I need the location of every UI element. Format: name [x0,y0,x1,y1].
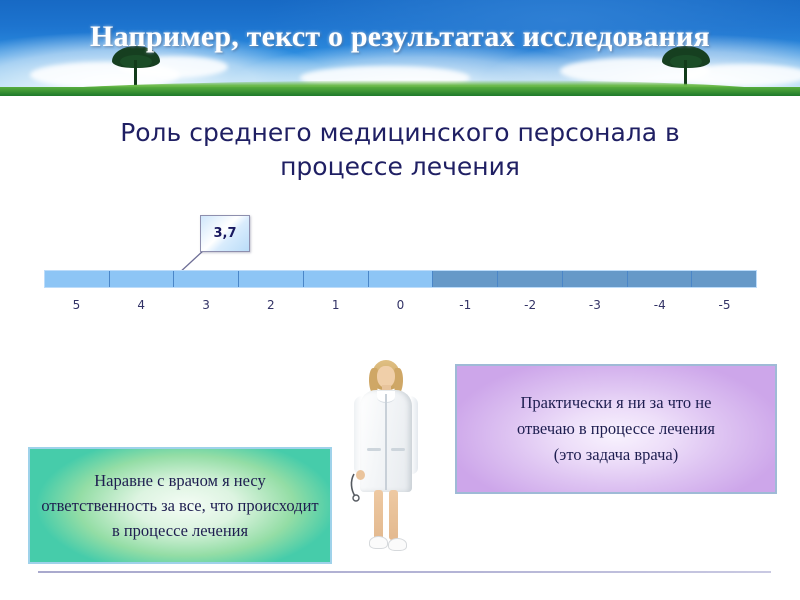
scale-segment--4 [628,271,693,287]
grass-strip-dark [0,87,800,96]
scale-tick-5: 5 [44,298,109,312]
statement-box-agree-text: Наравне с врачом я несу ответственность … [36,468,324,543]
scale-segment-1 [304,271,369,287]
scale-segment-5 [45,271,110,287]
callout-value: 3,7 [213,226,236,241]
scale-tick-4: 4 [109,298,174,312]
statement-box-disagree: Практически я ни за что не отвечаю в про… [455,364,777,494]
scale-segment--1 [433,271,498,287]
scale-tick-0: 0 [368,298,433,312]
scale-tick--5: -5 [692,298,757,312]
scale-segment--5 [692,271,756,287]
scale-segment-4 [110,271,175,287]
scale-tick-1: 1 [303,298,368,312]
scale-segment-2 [239,271,304,287]
banner-title: Например, текст о результатах исследован… [0,20,800,54]
scale-tick--3: -3 [563,298,628,312]
scale-segment--3 [563,271,628,287]
page-title: Роль среднего медицинского персонала в п… [60,116,740,184]
scale-segment--2 [498,271,563,287]
footer-divider [38,571,771,573]
scale-tick-3: 3 [174,298,239,312]
statement-box-agree: Наравне с врачом я несу ответственность … [28,447,332,564]
statement-box-disagree-line3: (это задача врача) [517,442,715,468]
header-banner: Например, текст о результатах исследован… [0,0,800,96]
stethoscope-icon [349,472,365,502]
scale-chart: 543210-1-2-3-4-5 [44,270,757,312]
scale-segment-3 [174,271,239,287]
scale-bar [44,270,757,288]
scale-tick--1: -1 [433,298,498,312]
value-callout: 3,7 [200,215,250,252]
scale-segment-0 [369,271,434,287]
nurse-photo [340,360,432,555]
statement-box-disagree-line2: отвечаю в процессе лечения [517,416,715,442]
scale-tick-2: 2 [238,298,303,312]
scale-tick--4: -4 [627,298,692,312]
scale-tick--2: -2 [498,298,563,312]
scale-tick-labels: 543210-1-2-3-4-5 [44,298,757,312]
statement-box-disagree-line1: Практически я ни за что не [517,390,715,416]
